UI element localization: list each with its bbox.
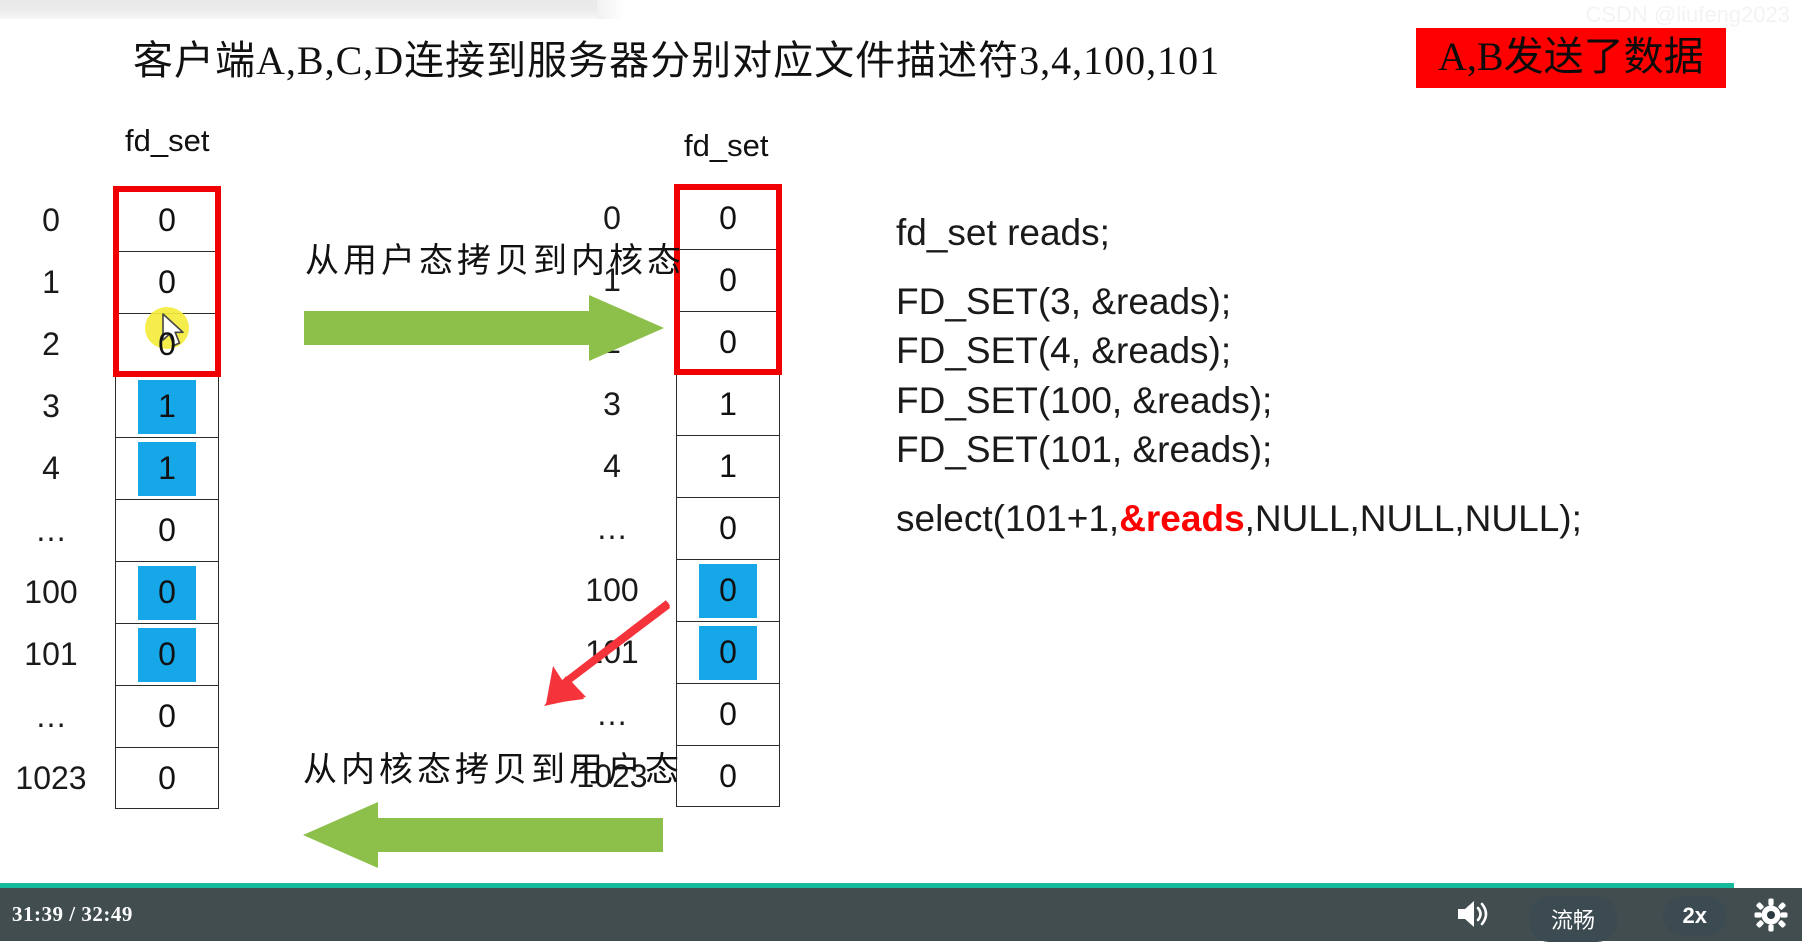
fd-bit-value: 0 bbox=[158, 326, 176, 363]
copy-to-kernel-arrow-icon bbox=[304, 295, 664, 366]
row-index-label: … bbox=[5, 685, 115, 747]
row-index-label: 1 bbox=[5, 251, 115, 313]
table-row: 10 bbox=[115, 251, 219, 313]
row-index-label: … bbox=[5, 499, 115, 561]
fd-bit-cell: 0 bbox=[676, 187, 780, 249]
code-spacer-1 bbox=[896, 257, 1582, 277]
select-call-suffix: ,NULL,NULL,NULL); bbox=[1245, 498, 1582, 539]
table-row: 1010 bbox=[115, 623, 219, 685]
fd-bit-cell: 0 bbox=[115, 747, 219, 809]
table-row: 20 bbox=[676, 311, 780, 373]
fd-bit-cell: 0 bbox=[115, 623, 219, 685]
fd-bit-cell: 0 bbox=[676, 249, 780, 311]
fd-bit-cell: 0 bbox=[115, 561, 219, 623]
fd-bit-cell: 0 bbox=[115, 499, 219, 561]
video-time-display: 31:39 / 32:49 bbox=[12, 902, 133, 927]
row-index-label: … bbox=[566, 497, 676, 559]
fd-bit-value: 1 bbox=[719, 386, 737, 423]
video-player-controls: 31:39 / 32:49 流畅 2x bbox=[0, 888, 1802, 941]
row-index-label: 100 bbox=[5, 561, 115, 623]
table-row: …0 bbox=[676, 497, 780, 559]
fd-bit-cell: 1 bbox=[115, 437, 219, 499]
slide-canvas: 客户端A,B,C,D连接到服务器分别对应文件描述符3,4,100,101 A,B… bbox=[0, 0, 1802, 941]
code-line-5: FD_SET(101, &reads); bbox=[896, 425, 1582, 474]
table-row: 10 bbox=[676, 249, 780, 311]
row-index-label: 4 bbox=[5, 437, 115, 499]
fd-bit-value: 1 bbox=[719, 448, 737, 485]
table-row: 00 bbox=[115, 189, 219, 251]
table-row: 10230 bbox=[676, 745, 780, 807]
settings-button[interactable] bbox=[1754, 898, 1788, 932]
gear-icon bbox=[1754, 898, 1788, 932]
volume-icon bbox=[1456, 898, 1490, 930]
fd-bit-value: 0 bbox=[158, 760, 176, 797]
fd-bit-cell: 0 bbox=[676, 311, 780, 373]
csdn-watermark: CSDN @liufeng2023 bbox=[1585, 2, 1790, 28]
fd-bit-value: 0 bbox=[158, 574, 176, 611]
code-line-1: fd_set reads; bbox=[896, 208, 1582, 257]
fd-bit-value: 0 bbox=[719, 510, 737, 547]
table-row: 31 bbox=[115, 375, 219, 437]
table-row: 31 bbox=[676, 373, 780, 435]
row-index-label: 3 bbox=[5, 375, 115, 437]
fd-bit-cell: 0 bbox=[676, 497, 780, 559]
table-row: 10230 bbox=[115, 747, 219, 809]
volume-button[interactable] bbox=[1456, 898, 1490, 930]
fd-bit-cell: 1 bbox=[676, 373, 780, 435]
copy-to-user-arrow-icon bbox=[303, 802, 663, 873]
code-line-4: FD_SET(100, &reads); bbox=[896, 376, 1582, 425]
row-index-label: 101 bbox=[5, 623, 115, 685]
table-row: 41 bbox=[676, 435, 780, 497]
fd-bit-value: 0 bbox=[719, 324, 737, 361]
fd-bit-value: 0 bbox=[719, 200, 737, 237]
left-fd-set-table: 0010203141…010001010…010230 bbox=[115, 189, 219, 809]
right-table-caption: fd_set bbox=[684, 128, 768, 164]
code-spacer-2 bbox=[896, 474, 1582, 494]
row-index-label: 3 bbox=[566, 373, 676, 435]
fd-bit-value: 1 bbox=[158, 388, 176, 425]
row-index-label: 2 bbox=[5, 313, 115, 375]
table-row: …0 bbox=[115, 499, 219, 561]
code-line-2: FD_SET(3, &reads); bbox=[896, 277, 1582, 326]
fd-bit-cell: 0 bbox=[676, 621, 780, 683]
fd-bit-cell: 0 bbox=[676, 559, 780, 621]
quality-label: 流畅 bbox=[1529, 896, 1617, 942]
fd-bit-value: 0 bbox=[719, 634, 737, 671]
code-line-3: FD_SET(4, &reads); bbox=[896, 326, 1582, 375]
row-index-label: 1023 bbox=[5, 747, 115, 809]
fd-bit-cell: 0 bbox=[115, 189, 219, 251]
fd-bit-cell: 0 bbox=[115, 685, 219, 747]
browser-chrome-band bbox=[0, 0, 597, 19]
fd-bit-value: 0 bbox=[158, 512, 176, 549]
fd-bit-value: 0 bbox=[719, 758, 737, 795]
playback-speed-selector[interactable]: 2x bbox=[1663, 896, 1727, 936]
fd-bit-cell: 1 bbox=[115, 375, 219, 437]
result-pointer-arrow-icon bbox=[520, 600, 670, 720]
fd-bit-value: 1 bbox=[158, 450, 176, 487]
copy-to-user-label: 从内核态拷贝到用户态 bbox=[303, 742, 683, 791]
fd-bit-value: 0 bbox=[158, 264, 176, 301]
fd-bit-cell: 1 bbox=[676, 435, 780, 497]
fd-bit-cell: 0 bbox=[676, 683, 780, 745]
fd-bit-value: 0 bbox=[158, 636, 176, 673]
status-badge: A,B发送了数据 bbox=[1416, 28, 1726, 88]
table-row: 1000 bbox=[676, 559, 780, 621]
left-table-caption: fd_set bbox=[125, 123, 209, 159]
row-index-label: 0 bbox=[5, 189, 115, 251]
fd-bit-cell: 0 bbox=[115, 251, 219, 313]
playback-speed-label: 2x bbox=[1663, 896, 1727, 936]
copy-to-kernel-label: 从用户态拷贝到内核态 bbox=[305, 233, 685, 282]
table-row: …0 bbox=[115, 685, 219, 747]
page-title: 客户端A,B,C,D连接到服务器分别对应文件描述符3,4,100,101 bbox=[133, 28, 1220, 86]
select-reads-arg: &reads bbox=[1119, 498, 1244, 539]
fd-bit-value: 0 bbox=[719, 696, 737, 733]
code-block: fd_set reads; FD_SET(3, &reads); FD_SET(… bbox=[896, 208, 1582, 543]
fd-bit-cell: 0 bbox=[676, 745, 780, 807]
row-index-label: 4 bbox=[566, 435, 676, 497]
table-row: 00 bbox=[676, 187, 780, 249]
code-line-6: select(101+1,&reads,NULL,NULL,NULL); bbox=[896, 494, 1582, 543]
quality-selector[interactable]: 流畅 bbox=[1529, 896, 1617, 942]
fd-bit-value: 0 bbox=[719, 572, 737, 609]
select-call-prefix: select(101+1, bbox=[896, 498, 1119, 539]
fd-bit-value: 0 bbox=[158, 698, 176, 735]
table-row: …0 bbox=[676, 683, 780, 745]
right-fd-set-table: 0010203141…010001010…010230 bbox=[676, 187, 780, 807]
table-row: 1000 bbox=[115, 561, 219, 623]
table-row: 41 bbox=[115, 437, 219, 499]
fd-bit-value: 0 bbox=[719, 262, 737, 299]
table-row: 1010 bbox=[676, 621, 780, 683]
fd-bit-value: 0 bbox=[158, 202, 176, 239]
